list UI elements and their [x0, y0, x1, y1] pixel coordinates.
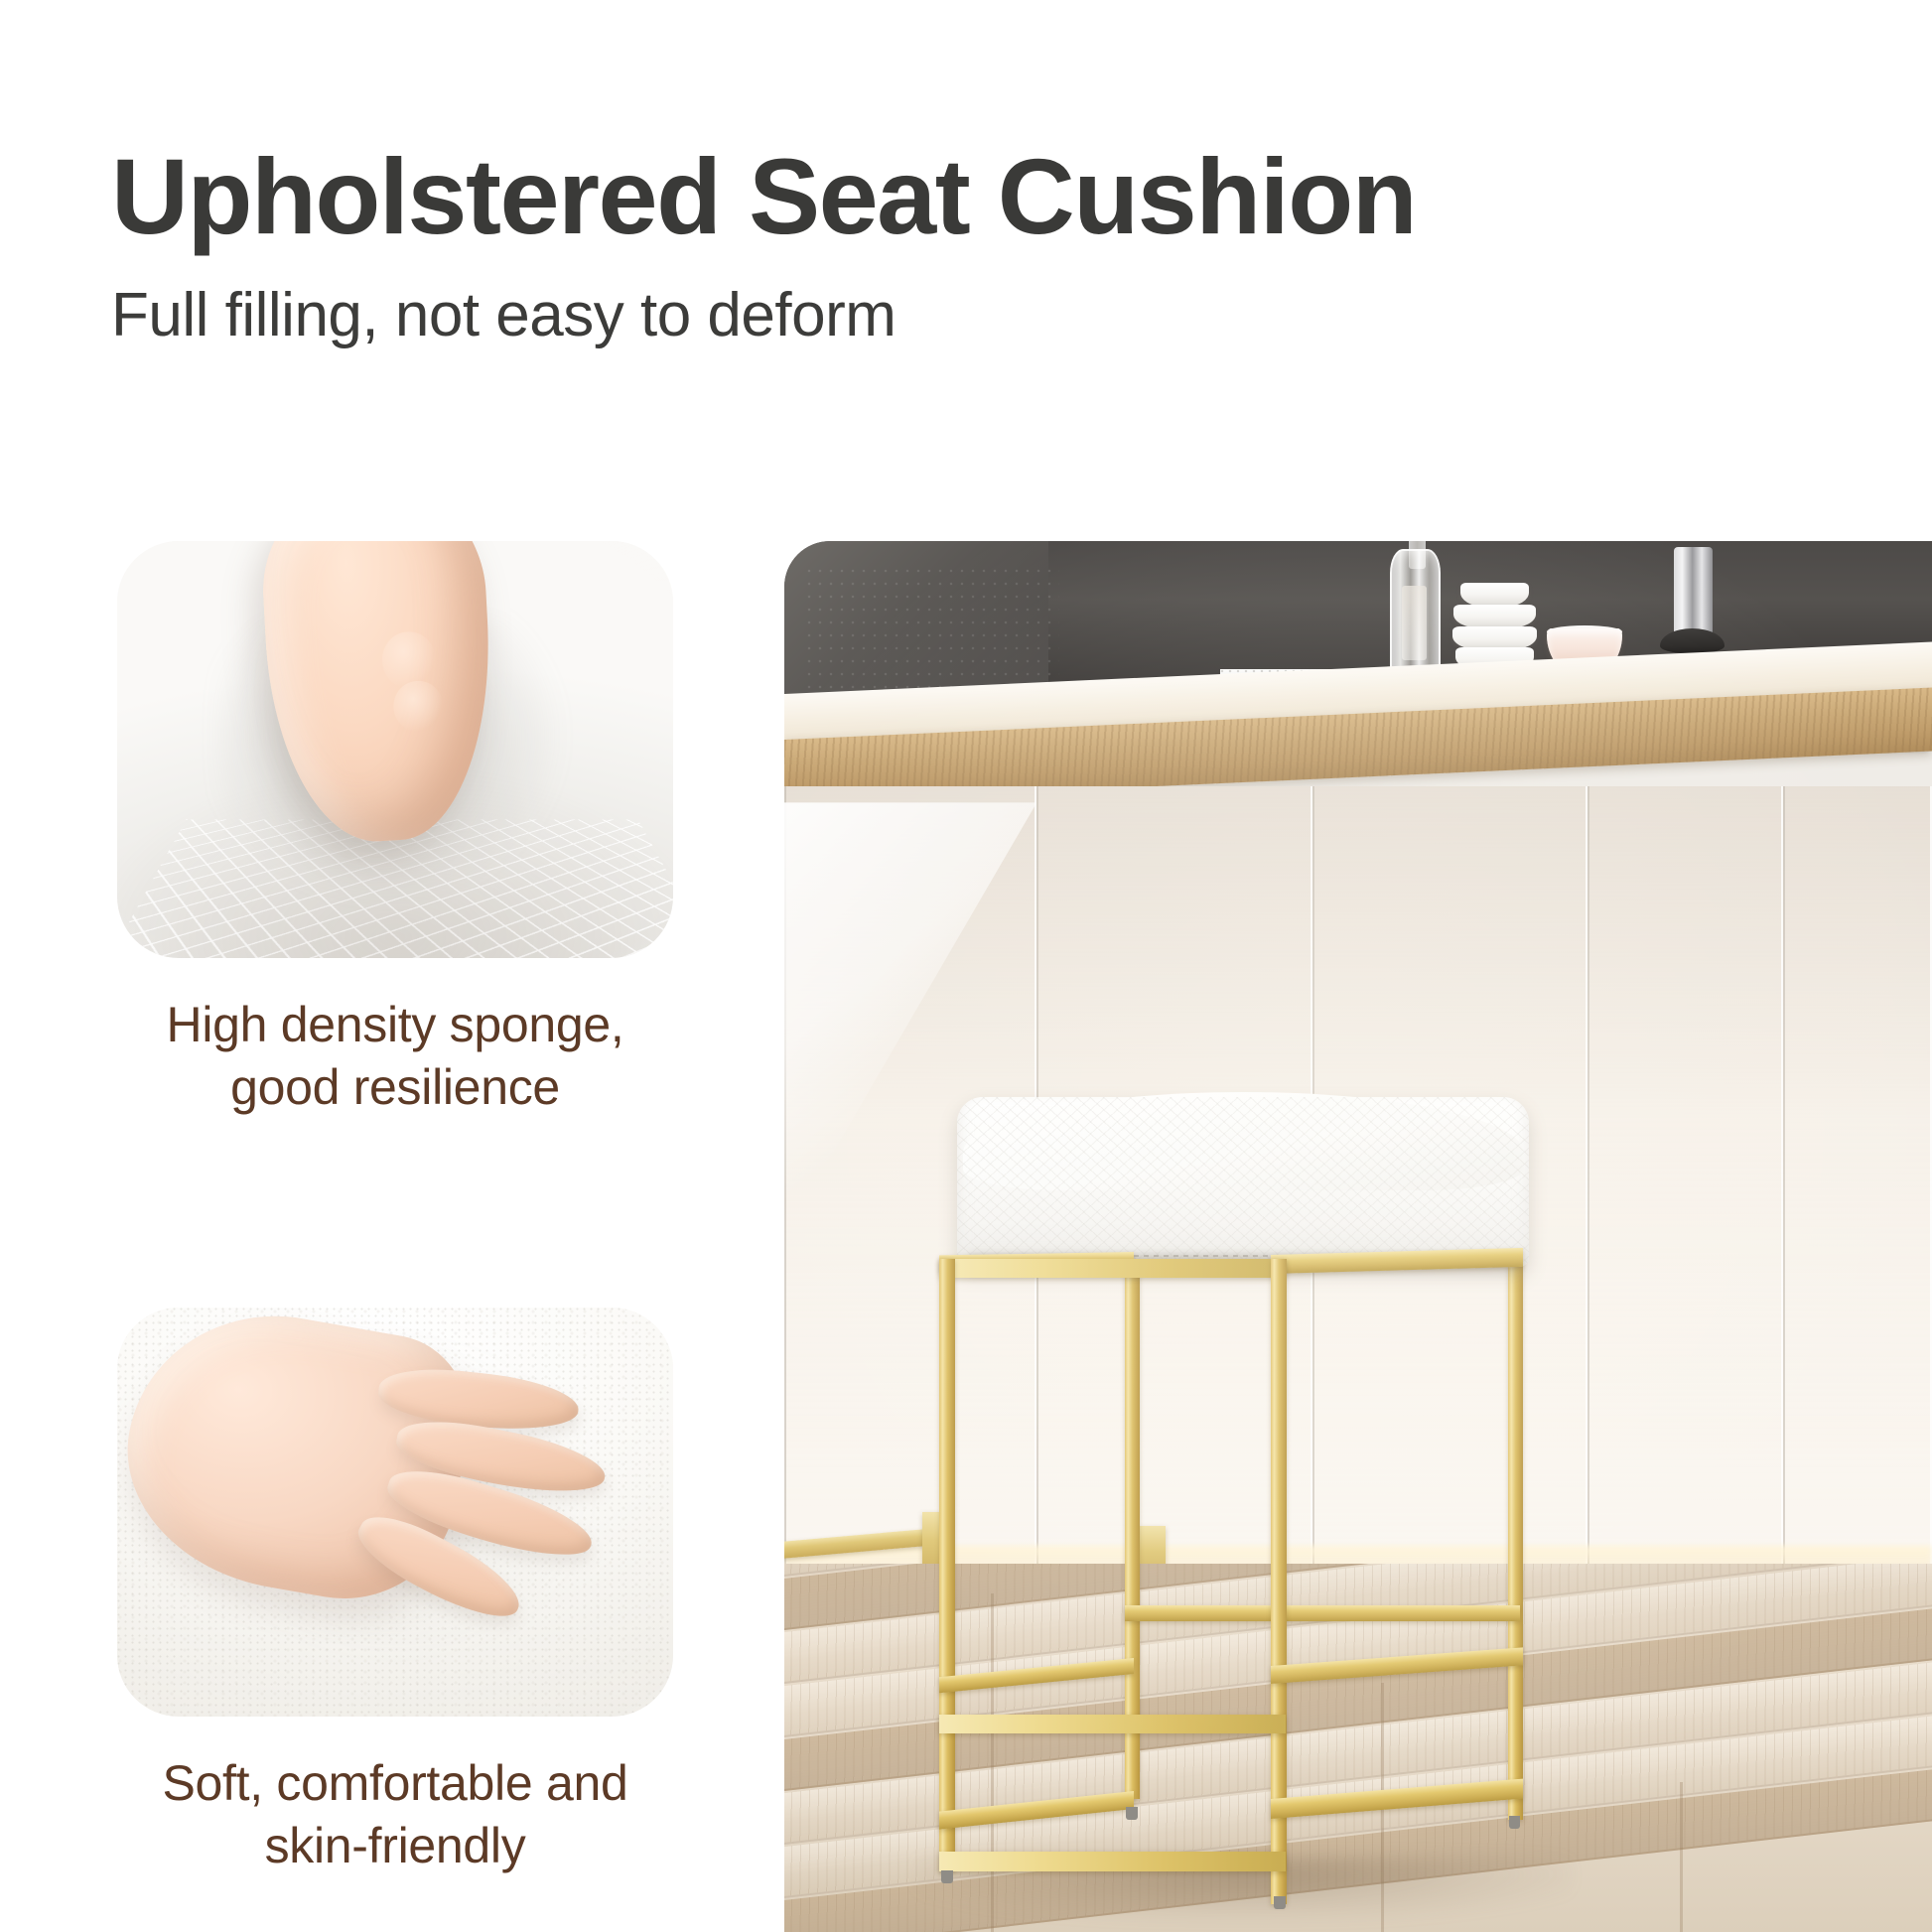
caption-line-1: Soft, comfortable and: [117, 1752, 673, 1815]
stool-rail-back-low: [1125, 1605, 1520, 1620]
feature-card-soft-skin-friendly: Soft, comfortable and skin-friendly: [117, 1308, 683, 1877]
kitchen-faucet-icon: [1674, 547, 1713, 636]
cabinet-panel: [1783, 786, 1932, 1621]
glass-bottle-inner-reflection: [1402, 586, 1427, 661]
feature-list: High density sponge, good resilience Sof…: [117, 541, 683, 1877]
stool-foot-pad: [1509, 1816, 1521, 1829]
stool-leg-back-right: [1508, 1255, 1523, 1820]
cabinet-panel: [1587, 786, 1783, 1621]
feature-card-high-density-sponge: High density sponge, good resilience: [117, 541, 683, 1119]
feature-thumbnail-foam: [117, 1308, 673, 1717]
caption-line-1: High density sponge,: [117, 994, 673, 1056]
bowl-second: [1453, 605, 1535, 628]
stool-foot-pad: [941, 1870, 953, 1883]
wall-speckle-texture: [807, 569, 1059, 694]
page-subtitle: Full filling, not easy to deform: [111, 281, 1819, 349]
stool-footrest-right: [1271, 1648, 1523, 1685]
upholstered-seat-cushion: [957, 1097, 1529, 1267]
product-feature-page: Upholstered Seat Cushion Full filling, n…: [0, 0, 1932, 1932]
feature-thumbnail-sponge: [117, 541, 673, 958]
caption-line-2: good resilience: [117, 1056, 673, 1119]
feature-caption-sponge: High density sponge, good resilience: [117, 994, 673, 1119]
thumbnail-soft-shadow: [117, 541, 673, 958]
product-hero-photo: [784, 541, 1932, 1932]
stool-base-rail-front: [939, 1852, 1286, 1871]
page-title: Upholstered Seat Cushion: [111, 139, 1819, 255]
stool-base-rail-right: [1271, 1779, 1523, 1819]
feature-caption-skin-friendly: Soft, comfortable and skin-friendly: [117, 1752, 673, 1877]
stool-foot-pad: [1126, 1807, 1138, 1820]
stool-base-rail-left: [939, 1791, 1134, 1829]
floor-plank-seam: [1680, 1782, 1683, 1932]
stool-foot-pad: [1274, 1896, 1286, 1909]
caption-line-2: skin-friendly: [117, 1815, 673, 1877]
stool-rail-front-top: [939, 1259, 1286, 1279]
bowl-top: [1460, 583, 1528, 607]
cushion-fabric-weave: [957, 1097, 1529, 1267]
stool-footrest-front: [939, 1715, 1286, 1733]
faucet-base: [1660, 628, 1725, 653]
counter-stool-product: [939, 1097, 1548, 1904]
page-header: Upholstered Seat Cushion Full filling, n…: [111, 139, 1819, 349]
stool-footrest-left: [939, 1658, 1134, 1693]
stool-leg-front-left: [939, 1259, 955, 1872]
